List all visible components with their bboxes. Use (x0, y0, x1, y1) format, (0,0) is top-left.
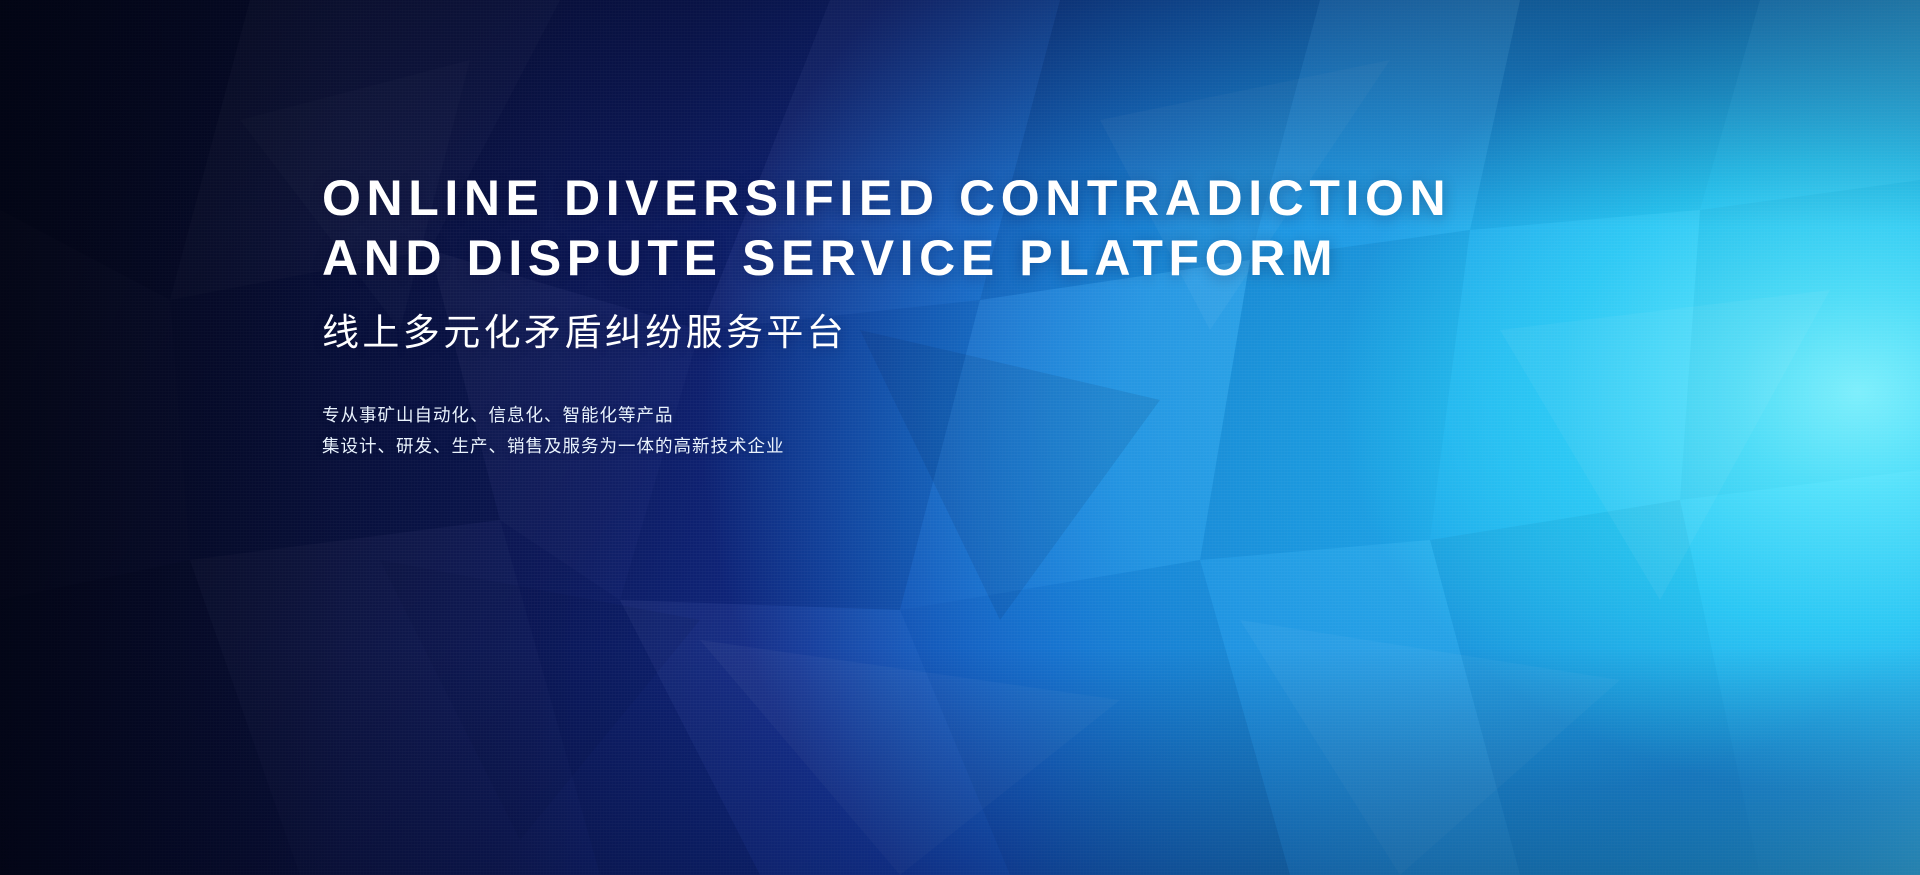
description-line-1: 专从事矿山自动化、信息化、智能化等产品 (322, 400, 1442, 431)
hero-banner: ONLINE DIVERSIFIED CONTRADICTION AND DIS… (0, 0, 1920, 875)
headline-line-1: ONLINE DIVERSIFIED CONTRADICTION (322, 168, 1442, 228)
description-line-2: 集设计、研发、生产、销售及服务为一体的高新技术企业 (322, 431, 1442, 462)
hero-text-block: ONLINE DIVERSIFIED CONTRADICTION AND DIS… (322, 168, 1442, 462)
headline-line-2: AND DISPUTE SERVICE PLATFORM (322, 228, 1442, 288)
subtitle-chinese: 线上多元化矛盾纠纷服务平台 (322, 310, 1442, 356)
